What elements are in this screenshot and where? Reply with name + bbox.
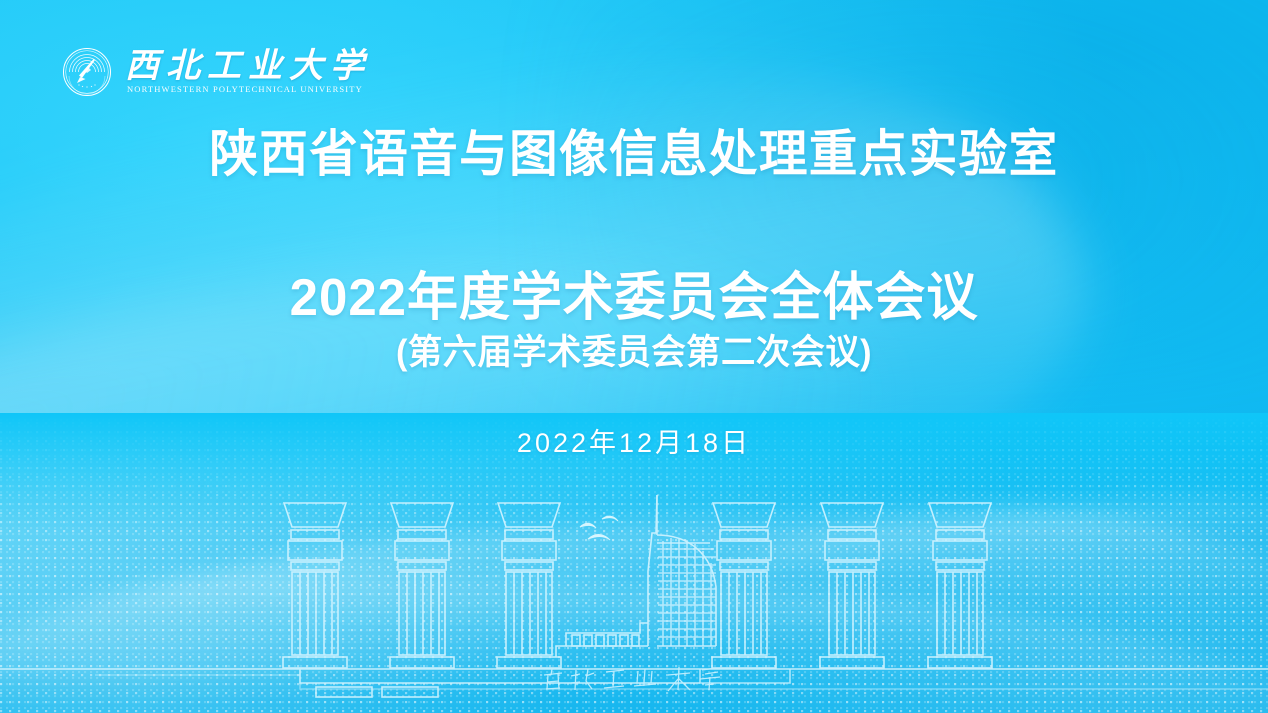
meeting-subtitle: (第六届学术委员会第二次会议) xyxy=(13,332,1256,374)
logo-wordmark: 西北工业大学 NORTHWESTERN POLYTECHNICAL UNIVER… xyxy=(125,50,371,94)
logo-english-name: NORTHWESTERN POLYTECHNICAL UNIVERSITY xyxy=(125,85,371,94)
laboratory-title: 陕西省语音与图像信息处理重点实验室 xyxy=(19,126,1249,182)
title-block: 陕西省语音与图像信息处理重点实验室 2022年度学术委员会全体会议 (第六届学术… xyxy=(0,126,1268,457)
meeting-title-group: 2022年度学术委员会全体会议 (第六届学术委员会第二次会议) xyxy=(0,268,1268,374)
nwpu-seal-emblem-icon xyxy=(62,47,112,97)
presentation-slide: 西北工业大学 NORTHWESTERN POLYTECHNICAL UNIVER… xyxy=(0,0,1268,713)
logo-chinese-name: 西北工业大学 xyxy=(125,50,371,84)
meeting-date: 2022年12月18日 xyxy=(0,430,1268,457)
university-logo: 西北工业大学 NORTHWESTERN POLYTECHNICAL UNIVER… xyxy=(62,47,371,97)
meeting-title: 2022年度学术委员会全体会议 xyxy=(13,268,1256,328)
